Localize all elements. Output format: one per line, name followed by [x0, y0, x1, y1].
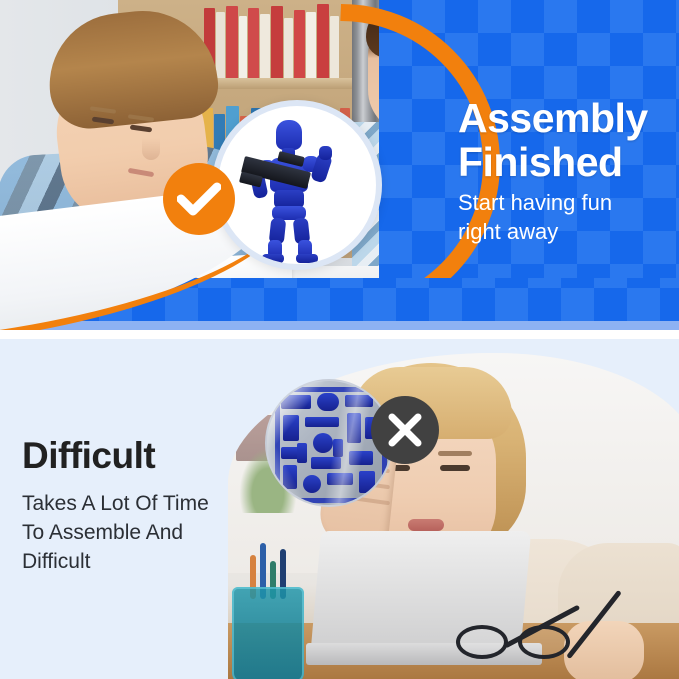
action-figure: [218, 106, 376, 264]
woman-eyebrow: [438, 451, 472, 456]
top-title-line-1: Assembly: [458, 96, 674, 140]
bottom-subtitle-line-2: To Assemble And: [22, 518, 262, 547]
teal-pencil-cup: [232, 587, 304, 679]
eyeglasses: [456, 613, 606, 659]
glasses-lens: [456, 625, 508, 659]
top-subtitle-line-2: right away: [458, 217, 664, 246]
top-subtitle-line-1: Start having fun: [458, 188, 664, 217]
product-circle-assembled: [212, 100, 382, 270]
woman-lips: [408, 519, 444, 531]
glasses-lens: [518, 625, 570, 659]
top-panel-title: Assembly Finished: [458, 96, 674, 184]
top-panel-subtitle: Start having fun right away: [458, 188, 664, 246]
infographic-page: Assembly Finished Start having fun right…: [0, 0, 679, 679]
bottom-subtitle-line-1: Takes A Lot Of Time: [22, 489, 262, 518]
x-mark-icon: [371, 396, 439, 464]
top-title-line-2: Finished: [458, 140, 674, 184]
panel-assembly-finished: Assembly Finished Start having fun right…: [0, 0, 679, 330]
boy-nose: [142, 138, 160, 160]
bottom-panel-title: Difficult: [22, 435, 282, 477]
bottom-subtitle-line-3: Difficult: [22, 547, 262, 576]
check-mark-icon: [163, 163, 235, 235]
woman-eye: [440, 465, 470, 471]
bottom-panel-subtitle: Takes A Lot Of Time To Assemble And Diff…: [22, 489, 262, 576]
